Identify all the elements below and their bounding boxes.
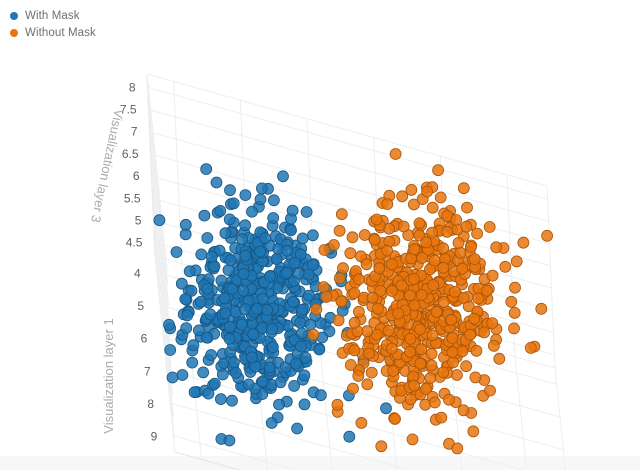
data-point xyxy=(349,345,360,356)
data-point xyxy=(428,280,439,291)
data-point xyxy=(471,345,482,356)
data-point xyxy=(240,190,251,201)
data-point xyxy=(297,304,308,315)
data-point xyxy=(217,369,228,380)
z-tick-label: 4.5 xyxy=(126,236,143,250)
data-point xyxy=(542,230,553,241)
data-point xyxy=(334,273,345,284)
data-point xyxy=(219,293,230,304)
data-point xyxy=(182,310,193,321)
data-point xyxy=(457,263,468,274)
data-point xyxy=(506,296,517,307)
data-point xyxy=(224,214,235,225)
data-point xyxy=(257,293,268,304)
data-point xyxy=(209,261,220,272)
data-point xyxy=(344,431,355,442)
data-point xyxy=(291,358,302,369)
data-point xyxy=(386,286,397,297)
data-point xyxy=(509,323,520,334)
data-point xyxy=(281,267,292,278)
data-point xyxy=(414,218,425,229)
data-point xyxy=(536,303,547,314)
data-point xyxy=(196,249,207,260)
gridline xyxy=(148,87,548,199)
data-point xyxy=(268,195,279,206)
data-point xyxy=(288,296,299,307)
legend-marker-with-mask xyxy=(10,12,18,20)
data-point xyxy=(470,372,481,383)
data-point xyxy=(479,327,490,338)
data-point xyxy=(299,370,310,381)
data-point xyxy=(469,254,480,265)
data-point xyxy=(468,426,479,437)
data-point xyxy=(416,344,427,355)
gridline xyxy=(152,176,172,372)
data-point xyxy=(171,247,182,258)
data-point xyxy=(220,228,231,239)
data-point xyxy=(203,388,214,399)
data-point xyxy=(224,333,235,344)
data-point xyxy=(274,399,285,410)
data-point xyxy=(416,290,427,301)
data-point xyxy=(240,220,251,231)
data-point xyxy=(444,394,455,405)
data-point xyxy=(202,283,213,294)
data-point xyxy=(371,214,382,225)
data-point xyxy=(447,347,458,358)
data-point xyxy=(237,234,248,245)
data-point xyxy=(484,222,495,233)
data-point xyxy=(238,285,249,296)
data-point xyxy=(315,390,326,401)
data-point xyxy=(181,323,192,334)
data-point xyxy=(449,286,460,297)
data-point xyxy=(390,414,401,425)
data-point xyxy=(359,230,370,241)
data-point xyxy=(409,300,420,311)
legend-item-with-mask[interactable]: With Mask xyxy=(10,7,96,24)
data-point xyxy=(295,317,306,328)
data-point xyxy=(238,268,249,279)
data-point xyxy=(438,297,449,308)
data-point xyxy=(487,318,498,329)
data-point xyxy=(228,357,239,368)
data-point xyxy=(246,352,257,363)
data-point xyxy=(406,184,417,195)
data-point xyxy=(458,405,469,416)
data-point xyxy=(265,271,276,282)
z-tick-label: 5.5 xyxy=(124,191,141,205)
data-point xyxy=(438,262,449,273)
data-point xyxy=(457,346,468,357)
data-point xyxy=(376,441,387,452)
data-point xyxy=(407,434,418,445)
data-point xyxy=(240,250,251,261)
data-point xyxy=(345,248,356,259)
data-point xyxy=(180,219,191,230)
legend-item-without-mask[interactable]: Without Mask xyxy=(10,24,96,41)
data-point xyxy=(433,165,444,176)
data-point xyxy=(362,379,373,390)
data-point xyxy=(388,366,399,377)
data-point xyxy=(264,362,275,373)
data-point xyxy=(236,319,247,330)
data-point xyxy=(225,185,236,196)
data-point xyxy=(427,330,438,341)
data-point xyxy=(349,317,360,328)
data-point xyxy=(367,292,378,303)
data-point xyxy=(465,329,476,340)
data-point xyxy=(469,313,480,324)
data-point xyxy=(461,361,472,372)
data-point xyxy=(438,367,449,378)
data-point xyxy=(287,205,298,216)
data-point xyxy=(247,206,258,217)
data-point xyxy=(220,308,231,319)
data-point xyxy=(206,251,217,262)
data-point xyxy=(525,342,536,353)
data-point xyxy=(461,221,472,232)
data-point xyxy=(333,315,344,326)
data-point xyxy=(473,293,484,304)
data-point xyxy=(374,263,385,274)
data-point xyxy=(336,209,347,220)
y-tick-label: 9 xyxy=(151,430,158,444)
gridline xyxy=(175,452,575,470)
data-point xyxy=(228,198,239,209)
data-point xyxy=(472,228,483,239)
data-point xyxy=(349,288,360,299)
data-point xyxy=(510,282,521,293)
data-point xyxy=(364,348,375,359)
data-point xyxy=(314,344,325,355)
data-point xyxy=(494,353,505,364)
data-point xyxy=(348,383,359,394)
data-point xyxy=(408,274,419,285)
data-point xyxy=(448,357,459,368)
data-point xyxy=(271,254,282,265)
data-point xyxy=(415,358,426,369)
data-point xyxy=(164,319,175,330)
data-point xyxy=(257,322,268,333)
data-point xyxy=(366,367,377,378)
data-point xyxy=(356,417,367,428)
data-point xyxy=(427,202,438,213)
plot-canvas: 4.555.566.577.58456789123456 Visualizati… xyxy=(0,0,640,470)
gridline xyxy=(547,186,555,368)
data-point xyxy=(243,379,254,390)
scatter3d-figure: 4.555.566.577.58456789123456 Visualizati… xyxy=(0,0,640,470)
data-point xyxy=(465,242,476,253)
z-tick-label: 8 xyxy=(129,80,136,94)
data-point xyxy=(211,177,222,188)
data-point xyxy=(353,306,364,317)
data-point xyxy=(332,399,343,410)
data-point xyxy=(206,350,217,361)
data-point xyxy=(393,308,404,319)
legend-label-with-mask: With Mask xyxy=(25,10,80,22)
data-point xyxy=(383,325,394,336)
data-point xyxy=(429,255,440,266)
data-point xyxy=(267,342,278,353)
data-point xyxy=(345,360,356,371)
data-point xyxy=(398,221,409,232)
data-point xyxy=(481,285,492,296)
data-point xyxy=(257,376,268,387)
data-point xyxy=(205,309,216,320)
data-point xyxy=(289,258,300,269)
data-point xyxy=(292,423,303,434)
data-point xyxy=(328,240,339,251)
data-point xyxy=(223,265,234,276)
data-point xyxy=(485,385,496,396)
z-tick-label: 7 xyxy=(131,125,138,139)
data-point xyxy=(462,202,473,213)
data-point xyxy=(447,333,458,344)
data-point xyxy=(455,247,466,258)
legend[interactable]: With Mask Without Mask xyxy=(10,7,96,41)
data-point xyxy=(184,266,195,277)
data-point xyxy=(405,333,416,344)
data-point xyxy=(451,370,462,381)
data-point xyxy=(446,314,457,325)
data-point xyxy=(188,340,199,351)
data-point xyxy=(488,340,499,351)
data-point xyxy=(282,245,293,256)
data-point xyxy=(256,183,267,194)
data-point xyxy=(438,243,449,254)
data-point xyxy=(299,399,310,410)
data-point xyxy=(336,296,347,307)
data-point xyxy=(509,307,520,318)
legend-marker-without-mask xyxy=(10,29,18,37)
data-point xyxy=(436,412,447,423)
data-point xyxy=(518,237,529,248)
data-point xyxy=(426,348,437,359)
data-point xyxy=(405,290,416,301)
y-tick-label: 7 xyxy=(144,364,151,378)
data-point xyxy=(426,360,437,371)
gridline xyxy=(555,368,575,470)
data-point xyxy=(267,324,278,335)
y-tick-label: 8 xyxy=(147,397,154,411)
data-point xyxy=(415,324,426,335)
data-point xyxy=(334,225,345,236)
data-point xyxy=(386,259,397,270)
data-point xyxy=(405,346,416,357)
data-point xyxy=(251,303,262,314)
data-point xyxy=(225,255,236,266)
data-point xyxy=(338,263,349,274)
data-point xyxy=(452,443,463,454)
data-point xyxy=(187,357,198,368)
data-point xyxy=(199,210,210,221)
data-point xyxy=(422,186,433,197)
data-point xyxy=(303,269,314,280)
data-point xyxy=(308,329,319,340)
data-point xyxy=(262,304,273,315)
data-point xyxy=(201,332,212,343)
data-point xyxy=(202,233,213,244)
data-point xyxy=(417,253,428,264)
data-point xyxy=(421,237,432,248)
data-point xyxy=(268,213,279,224)
data-point xyxy=(405,394,416,405)
data-point xyxy=(451,215,462,226)
y-tick-label: 5 xyxy=(137,299,144,313)
data-point xyxy=(429,397,440,408)
data-point xyxy=(165,345,176,356)
y-axis-title: Visualization layer 1 xyxy=(101,318,116,433)
data-point xyxy=(296,341,307,352)
z-tick-label: 6.5 xyxy=(122,147,139,161)
data-point xyxy=(318,282,329,293)
data-point xyxy=(390,149,401,160)
data-point xyxy=(300,352,311,363)
data-point xyxy=(198,367,209,378)
data-point xyxy=(386,343,397,354)
data-point xyxy=(409,244,420,255)
data-point xyxy=(297,233,308,244)
data-point xyxy=(289,380,300,391)
data-points-layer xyxy=(154,149,553,454)
data-point xyxy=(431,307,442,318)
data-point xyxy=(381,403,392,414)
data-point xyxy=(209,378,220,389)
data-point xyxy=(305,319,316,330)
data-point xyxy=(361,259,372,270)
data-point xyxy=(397,191,408,202)
data-point xyxy=(307,230,318,241)
data-point xyxy=(201,164,212,175)
z-tick-label: 6 xyxy=(133,169,140,183)
legend-label-without-mask: Without Mask xyxy=(25,27,96,39)
data-point xyxy=(321,291,332,302)
data-point xyxy=(382,199,393,210)
data-point xyxy=(427,227,438,238)
data-point xyxy=(347,232,358,243)
data-point xyxy=(278,171,289,182)
data-point xyxy=(353,274,364,285)
data-point xyxy=(154,215,165,226)
data-point xyxy=(435,192,446,203)
data-point xyxy=(301,207,312,218)
data-point xyxy=(396,280,407,291)
data-point xyxy=(266,418,277,429)
data-point xyxy=(382,245,393,256)
z-tick-label: 5 xyxy=(135,214,142,228)
data-point xyxy=(372,303,383,314)
y-tick-label: 6 xyxy=(141,332,148,346)
data-point xyxy=(425,373,436,384)
data-point xyxy=(369,235,380,246)
data-point xyxy=(260,233,271,244)
data-point xyxy=(293,268,304,279)
data-point xyxy=(255,194,266,205)
data-point xyxy=(491,242,502,253)
data-point xyxy=(227,395,238,406)
data-point xyxy=(353,371,364,382)
data-point xyxy=(296,328,307,339)
data-point xyxy=(453,237,464,248)
data-point xyxy=(215,205,226,216)
z-axis-title: Visualization layer 3 xyxy=(88,108,127,224)
data-point xyxy=(275,377,286,388)
data-point xyxy=(224,435,235,446)
data-point xyxy=(176,278,187,289)
data-point xyxy=(177,370,188,381)
data-point xyxy=(511,256,522,267)
data-point xyxy=(230,367,241,378)
data-point xyxy=(500,261,511,272)
y-tick-label: 4 xyxy=(134,266,141,280)
data-point xyxy=(409,380,420,391)
data-point xyxy=(189,387,200,398)
data-point xyxy=(215,394,226,405)
data-point xyxy=(180,294,191,305)
data-point xyxy=(255,246,266,257)
data-point xyxy=(311,304,322,315)
data-point xyxy=(442,226,453,237)
data-point xyxy=(286,225,297,236)
data-point xyxy=(167,372,178,383)
data-point xyxy=(487,270,498,281)
data-point xyxy=(458,183,469,194)
